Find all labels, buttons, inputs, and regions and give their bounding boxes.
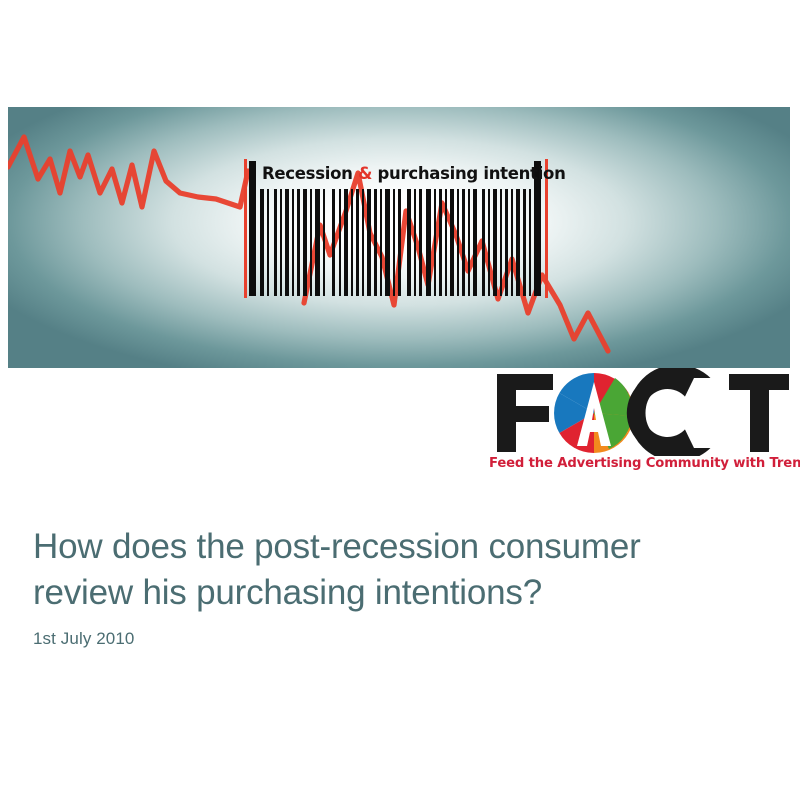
fact-logo: Feed the Advertising Community with Tren… [489, 368, 794, 478]
barcode-graphic: Recession & purchasing intention [244, 161, 556, 296]
slide-canvas: Recession & purchasing intention [0, 0, 800, 800]
trend-line-left [8, 137, 248, 207]
logo-letter-f [497, 374, 553, 452]
logo-letter-c [627, 373, 729, 453]
logo-letter-t [729, 374, 789, 452]
page-title-line1: How does the post-recession consumer [33, 527, 641, 566]
logo-letter-a-colorwheel [554, 373, 634, 453]
page-title-line2: review his purchasing intentions? [33, 570, 753, 616]
barcode-title-part1: Recession [262, 164, 358, 183]
barcode-title: Recession & purchasing intention [262, 161, 530, 187]
barcode-red-guard-left [244, 159, 247, 298]
fact-wordmark [489, 368, 794, 456]
slide-date: 1st July 2010 [33, 629, 134, 649]
barcode-title-part2: purchasing intention [372, 164, 565, 183]
fact-tagline: Feed the Advertising Community with Tren… [489, 456, 794, 471]
barcode-title-ampersand: & [358, 164, 372, 183]
page-title: How does the post-recession consumer rev… [33, 524, 753, 616]
barcode-bars [260, 189, 532, 296]
barcode-guard-bar-left [249, 161, 256, 296]
